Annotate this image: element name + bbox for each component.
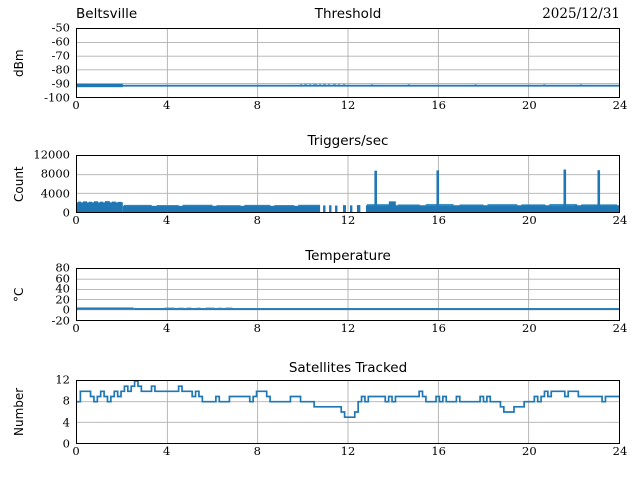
xtick: 16 <box>431 323 446 335</box>
panel-triggers-axes <box>76 155 620 213</box>
panel-temperature-ylabel: °C <box>12 268 26 321</box>
xtick: 4 <box>163 446 170 458</box>
panel-satellites-plot <box>77 381 619 443</box>
panel-satellites-yticks: 12 8 4 0 <box>0 380 70 444</box>
ytick: 8000 <box>41 169 70 181</box>
panel-threshold-yticks: -50 -60 -70 -80 -90 -100 <box>0 28 70 98</box>
ytick: 4 <box>63 417 70 429</box>
date-label: 2025/12/31 <box>542 6 620 22</box>
ytick: -70 <box>51 50 70 62</box>
ytick: 12 <box>55 374 70 386</box>
xtick: 4 <box>163 323 170 335</box>
panel-temperature-title: Temperature <box>76 248 620 264</box>
panel-temperature-axes <box>76 268 620 321</box>
xtick: 0 <box>72 446 79 458</box>
panel-threshold-ylabel: dBm <box>12 28 26 98</box>
panel-satellites-title: Satellites Tracked <box>76 360 620 376</box>
ytick: -80 <box>51 64 70 76</box>
panel-triggers-title: Triggers/sec <box>76 133 620 149</box>
panel-triggers-plot <box>77 156 619 212</box>
xtick: 12 <box>341 446 356 458</box>
ytick: -60 <box>51 36 70 48</box>
ytick: 8 <box>63 396 70 408</box>
xtick: 8 <box>254 100 261 112</box>
panel-satellites-ylabel: Number <box>12 380 26 444</box>
panel-temperature-plot <box>77 269 619 320</box>
ytick: 12000 <box>33 149 70 161</box>
panel-threshold-axes <box>76 28 620 98</box>
ytick: -50 <box>51 22 70 34</box>
xtick: 0 <box>72 215 79 227</box>
ytick: 0 <box>63 438 70 450</box>
xtick: 16 <box>431 215 446 227</box>
xtick: 16 <box>431 446 446 458</box>
xtick: 8 <box>254 323 261 335</box>
xtick: 0 <box>72 100 79 112</box>
panel-temperature-yticks: 80 60 40 20 0 -20 <box>0 268 70 321</box>
panel-satellites-axes <box>76 380 620 444</box>
xtick: 24 <box>613 215 628 227</box>
xtick: 20 <box>522 323 537 335</box>
xtick: 8 <box>254 446 261 458</box>
xtick: 12 <box>341 100 356 112</box>
xtick: 4 <box>163 215 170 227</box>
ytick: 4000 <box>41 188 70 200</box>
ytick: 0 <box>63 207 70 219</box>
ytick: -100 <box>44 92 70 104</box>
figure-canvas: Beltsville Threshold 2025/12/31 -50 -60 … <box>0 0 640 480</box>
ytick: -20 <box>51 315 70 327</box>
xtick: 20 <box>522 446 537 458</box>
xtick: 24 <box>613 446 628 458</box>
panel-satellites-title-row: Satellites Tracked <box>76 360 620 378</box>
xtick: 0 <box>72 323 79 335</box>
xtick: 16 <box>431 100 446 112</box>
xtick: 24 <box>613 100 628 112</box>
panel-temperature-title-row: Temperature <box>76 248 620 266</box>
panel-threshold-title: Threshold <box>76 6 620 22</box>
xtick: 20 <box>522 215 537 227</box>
xtick: 20 <box>522 100 537 112</box>
panel-threshold-plot <box>77 29 619 97</box>
xtick: 8 <box>254 215 261 227</box>
panel-triggers-ylabel: Count <box>12 155 26 213</box>
xtick: 4 <box>163 100 170 112</box>
xtick: 12 <box>341 215 356 227</box>
panel-triggers-yticks: 12000 8000 4000 0 <box>0 155 70 213</box>
xtick: 24 <box>613 323 628 335</box>
panel-threshold-title-row: Beltsville Threshold 2025/12/31 <box>76 6 620 24</box>
xtick: 12 <box>341 323 356 335</box>
panel-triggers-title-row: Triggers/sec <box>76 133 620 151</box>
ytick: -90 <box>51 78 70 90</box>
